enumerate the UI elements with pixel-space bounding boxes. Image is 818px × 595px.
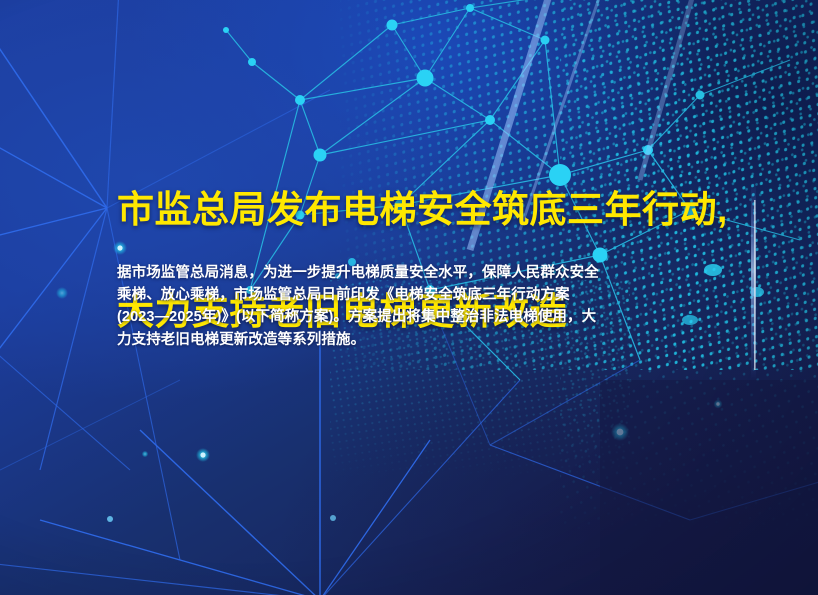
- body-line-2: 乘梯、放心乘梯，市场监管总局日前印发《电梯安全筑底三年行动方案: [117, 284, 733, 306]
- headline-line-1: 市监总局发布电梯安全筑底三年行动,: [117, 184, 777, 235]
- body-line-3: (2023—2025年)》(以下简称方案)。方案提出将集中整治非法电梯使用，大: [117, 306, 733, 328]
- body-line-4: 力支持老旧电梯更新改造等系列措施。: [117, 329, 733, 351]
- news-poster: 市监总局发布电梯安全筑底三年行动, 大力支持老旧电梯更新改造 据市场监管总局消息…: [0, 0, 818, 595]
- body-line-1: 据市场监管总局消息，为进一步提升电梯质量安全水平，保障人民群众安全: [117, 262, 733, 284]
- body-paragraph: 据市场监管总局消息，为进一步提升电梯质量安全水平，保障人民群众安全 乘梯、放心乘…: [117, 262, 733, 351]
- poster-content: 市监总局发布电梯安全筑底三年行动, 大力支持老旧电梯更新改造 据市场监管总局消息…: [0, 0, 818, 595]
